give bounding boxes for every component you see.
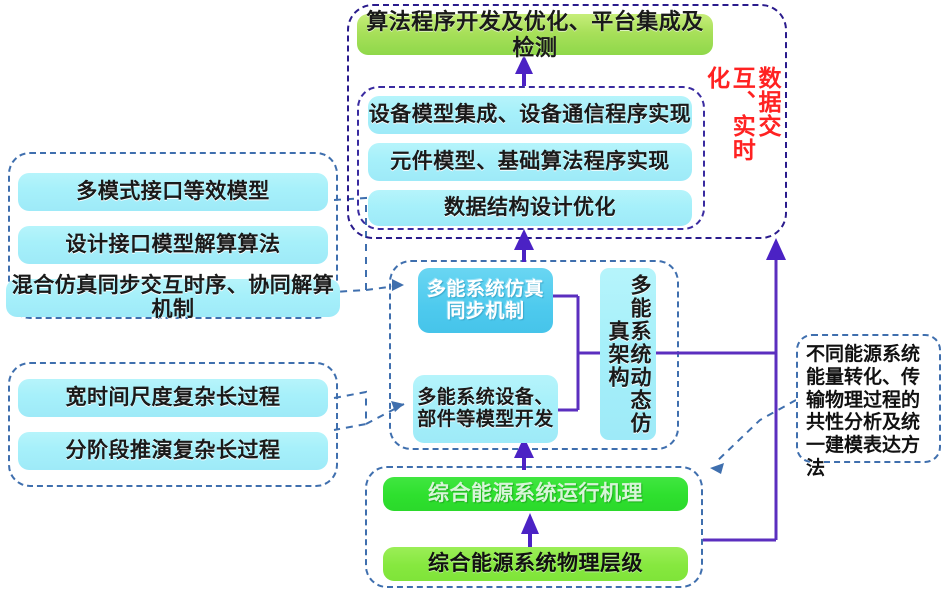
top-item-2[interactable]: 数据结构设计优化 bbox=[368, 190, 692, 226]
bottom-item-0[interactable]: 综合能源系统运行机理 bbox=[383, 477, 688, 511]
bottom-item-1[interactable]: 综合能源系统物理层级 bbox=[383, 547, 688, 581]
left-upper-item-1[interactable]: 设计接口模型解算算法 bbox=[18, 226, 328, 264]
left-lower-item-1[interactable]: 分阶段推演复杂长过程 bbox=[18, 432, 328, 470]
diagram-canvas: 算法程序开发及优化、平台集成及检测 设备模型集成、设备通信程序实现 元件模型、基… bbox=[0, 0, 948, 595]
middle-item-model-development[interactable]: 多能系统设备、部件等模型开发 bbox=[413, 375, 558, 443]
architecture-box-label: 多能系统动态仿真架构 bbox=[606, 268, 650, 440]
headline-box[interactable]: 算法程序开发及优化、平台集成及检测 bbox=[357, 14, 713, 55]
architecture-box[interactable]: 多能系统动态仿真架构 bbox=[600, 268, 656, 440]
top-item-1[interactable]: 元件模型、基础算法程序实现 bbox=[368, 143, 692, 181]
middle-item-sync-mechanism[interactable]: 多能系统仿真同步机制 bbox=[418, 268, 553, 333]
data-interaction-note: 数据交互、实时化 bbox=[722, 66, 780, 170]
right-note-box[interactable]: 不同能源系统能量转化、传输物理过程的共性分析及统一建模表达方法 bbox=[796, 334, 941, 463]
left-upper-item-2[interactable]: 混合仿真同步交互时序、协同解算机制 bbox=[6, 279, 340, 317]
left-lower-item-0[interactable]: 宽时间尺度复杂长过程 bbox=[18, 379, 328, 417]
left-upper-item-0[interactable]: 多模式接口等效模型 bbox=[18, 173, 328, 211]
top-item-0[interactable]: 设备模型集成、设备通信程序实现 bbox=[368, 96, 692, 134]
